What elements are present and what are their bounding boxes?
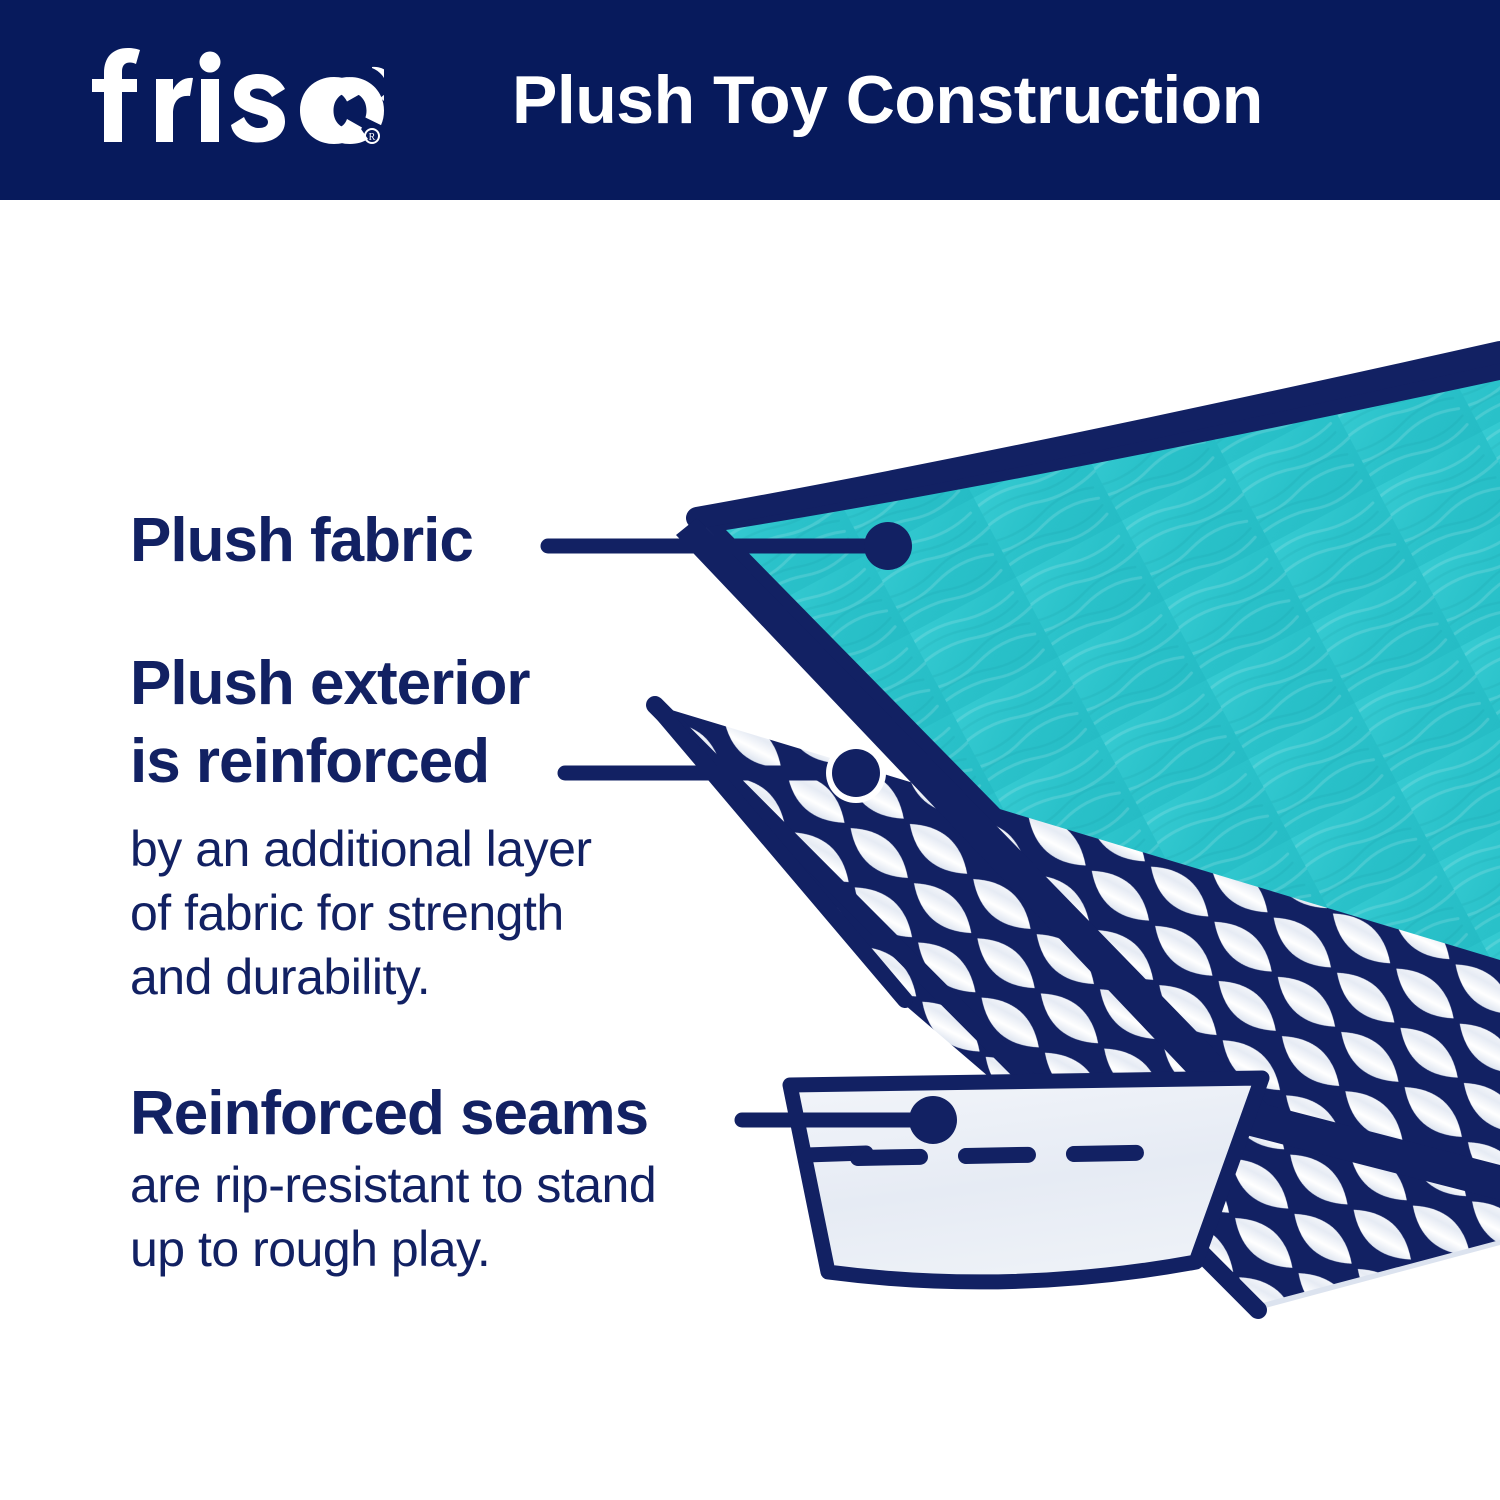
callout-plush-exterior-heading-line-2: is reinforced xyxy=(130,723,592,801)
callout-reinforced-seams-heading: Reinforced seams xyxy=(130,1075,656,1153)
callout-plush-fabric: Plush fabric xyxy=(130,502,473,580)
callout-reinforced-seams-body-line-2: up to rough play. xyxy=(130,1217,656,1281)
leader-dot-plush-fabric xyxy=(864,522,912,570)
callout-plush-exterior-body-line-2: of fabric for strength xyxy=(130,881,592,945)
frisco-logo: R xyxy=(84,46,384,151)
callout-plush-exterior-body-line-1: by an additional layer xyxy=(130,817,592,881)
header-bar: R Plush Toy Construction xyxy=(0,0,1500,200)
seam-flap xyxy=(790,1078,1262,1282)
callout-plush-exterior-reinforced: Plush exterior is reinforced by an addit… xyxy=(130,645,592,1009)
infographic-page: R Plush Toy Construction xyxy=(0,0,1500,1500)
callout-reinforced-seams: Reinforced seams are rip-resistant to st… xyxy=(130,1075,656,1281)
callout-plush-exterior-heading-line-1: Plush exterior xyxy=(130,645,592,723)
page-title: Plush Toy Construction xyxy=(512,50,1263,150)
callout-plush-exterior-body-line-3: and durability. xyxy=(130,945,592,1009)
callout-reinforced-seams-body-line-1: are rip-resistant to stand xyxy=(130,1153,656,1217)
svg-text:R: R xyxy=(369,132,376,143)
leader-dot-reinforced-seams xyxy=(909,1096,957,1144)
callout-plush-fabric-heading: Plush fabric xyxy=(130,502,473,580)
leader-dot-plush-exterior xyxy=(832,749,880,797)
